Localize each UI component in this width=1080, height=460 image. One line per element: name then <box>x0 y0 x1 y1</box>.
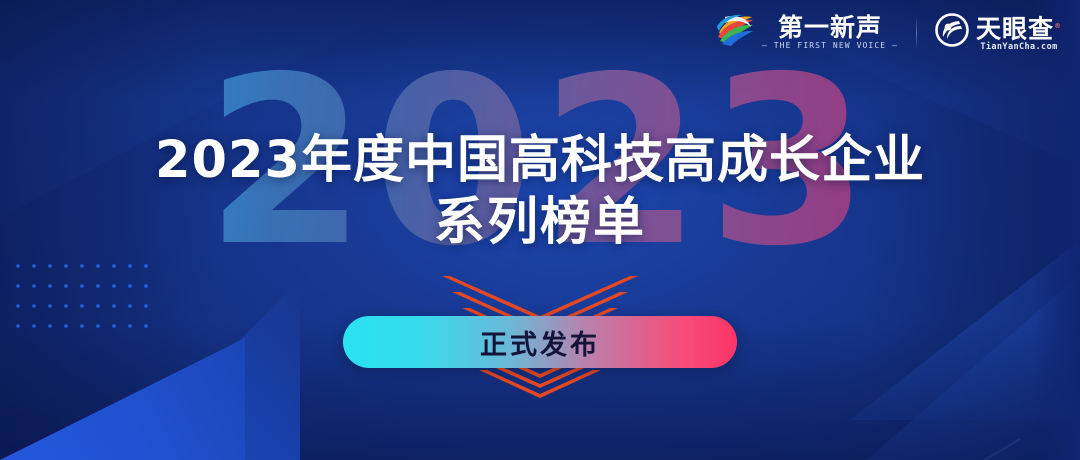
swirl-ribbon-icon <box>715 13 755 52</box>
logo-name-cn: 天眼查® <box>976 13 1062 42</box>
cta-label: 正式发布 <box>480 323 600 362</box>
logo-tianyancha[interactable]: 天眼查® TianYanCha.com <box>935 13 1062 52</box>
trademark-mark: ® <box>1054 22 1062 30</box>
dot-grid-decoration <box>8 254 160 332</box>
page-title: 2023年度中国高科技高成长企业 系列榜单 <box>0 130 1080 254</box>
logo-divider <box>916 16 917 50</box>
headline-line-2: 系列榜单 <box>0 192 1080 254</box>
logo-name-cn: 第一新声 <box>778 15 882 41</box>
logo-tagline-en: TianYanCha.com <box>980 42 1057 52</box>
logo-bar: 第一新声 — THE FIRST NEW VOICE — 天眼查® TianYa… <box>715 13 1062 52</box>
headline-line-1: 2023年度中国高科技高成长企业 <box>0 130 1080 192</box>
aperture-eye-icon <box>935 13 969 52</box>
cta-pill-button[interactable]: 正式发布 <box>343 316 737 368</box>
logo-diyixinsheng[interactable]: 第一新声 — THE FIRST NEW VOICE — <box>715 13 898 52</box>
promo-banner: 2023 2023年度中国高科技高成长企业 系列榜单 正式发布 <box>0 0 1080 460</box>
logo-name-text: 天眼查 <box>976 14 1054 43</box>
logo-tagline-en: — THE FIRST NEW VOICE — <box>762 41 898 51</box>
